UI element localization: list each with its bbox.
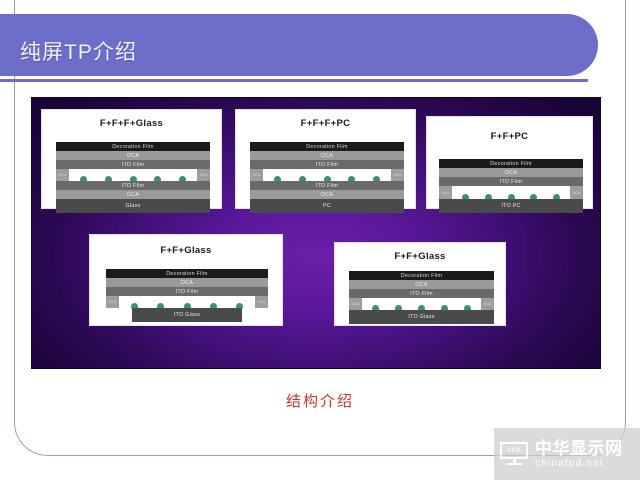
layer-stack: Decoration FilmOCAITO FilmOCAOCAITO PC <box>439 159 583 213</box>
page-title: 纯屏TP介绍 <box>20 36 137 66</box>
layer-decoration-film: Decoration Film <box>106 269 268 278</box>
diagram-title: F+F+Glass <box>335 251 505 262</box>
layer-ito-film: ITO Film <box>250 181 404 190</box>
air-gap-layer: OCAOCA <box>349 298 494 310</box>
layer-oca: OCA <box>250 151 404 160</box>
layer-decoration-film: Decoration Film <box>349 271 494 280</box>
spacer-tab-left: OCA <box>56 169 69 181</box>
spacer-tab-right: OCA <box>197 169 210 181</box>
layer-ito-film: ITO Film <box>439 177 583 186</box>
layer-ito-film: ITO Film <box>349 289 494 298</box>
diagram-card-2[interactable]: F+F+F+PCDecoration FilmOCAITO FilmOCAOCA… <box>235 109 416 209</box>
watermark-text: 中华显示网 chinafpd.net <box>535 439 623 470</box>
diagram-card-3[interactable]: F+F+PCDecoration FilmOCAITO FilmOCAOCAIT… <box>426 116 593 209</box>
watermark-url: chinafpd.net <box>535 458 623 470</box>
fpd-icon-label: FPD <box>500 442 528 459</box>
spacer-tab-right: OCA <box>391 169 404 181</box>
diagram-title: F+F+F+Glass <box>42 118 221 129</box>
spacer-tab-right: OCA <box>481 298 494 310</box>
content-panel: F+F+F+GlassDecoration FilmOCAITO FilmOCA… <box>31 97 601 369</box>
layer-ito-glass: ITO Glass <box>132 308 242 322</box>
layer-decoration-film: Decoration Film <box>439 159 583 168</box>
layer-oca: OCA <box>250 190 404 199</box>
spacer-tab-left: OCA <box>439 186 452 199</box>
layer-glass: Glass <box>56 199 210 213</box>
air-gap-layer: OCAOCA <box>106 296 268 308</box>
fpd-monitor-icon: FPD <box>500 440 530 468</box>
layer-ito-film: ITO Film <box>106 287 268 296</box>
layer-oca: OCA <box>439 168 583 177</box>
diagram-card-5[interactable]: F+F+GlassDecoration FilmOCAITO FilmOCAOC… <box>334 242 506 326</box>
layer-oca: OCA <box>106 278 268 287</box>
layer-stack: Decoration FilmOCAITO FilmOCAOCAITO Glas… <box>106 269 268 322</box>
spacer-tab-left: OCA <box>106 296 119 308</box>
layer-stack: Decoration FilmOCAITO FilmOCAOCAITO Film… <box>250 142 404 213</box>
layer-oca: OCA <box>56 151 210 160</box>
layer-stack: Decoration FilmOCAITO FilmOCAOCAITO Film… <box>56 142 210 213</box>
sensor-dots <box>454 186 568 199</box>
layer-oca: OCA <box>349 280 494 289</box>
sensor-dots <box>121 296 253 308</box>
watermark-cn: 中华显示网 <box>535 439 623 458</box>
section-caption: 结构介绍 <box>0 390 640 411</box>
watermark: FPD 中华显示网 chinafpd.net <box>494 428 640 480</box>
diagram-card-4[interactable]: F+F+GlassDecoration FilmOCAITO FilmOCAOC… <box>89 234 283 326</box>
sensor-dots <box>265 169 389 181</box>
title-underline <box>0 79 588 82</box>
diagram-title: F+F+Glass <box>90 245 282 256</box>
layer-decoration-film: Decoration Film <box>250 142 404 151</box>
slide: 纯屏TP介绍 F+F+F+GlassDecoration FilmOCAITO … <box>0 0 640 480</box>
spacer-tab-right: OCA <box>570 186 583 199</box>
layer-ito-film: ITO Film <box>56 160 210 169</box>
layer-ito-film: ITO Film <box>56 181 210 190</box>
title-banner: 纯屏TP介绍 <box>0 14 598 76</box>
air-gap-layer: OCAOCA <box>250 169 404 181</box>
air-gap-layer: OCAOCA <box>439 186 583 199</box>
air-gap-layer: OCAOCA <box>56 169 210 181</box>
layer-decoration-film: Decoration Film <box>56 142 210 151</box>
layer-ito-pc: ITO PC <box>439 199 583 213</box>
spacer-tab-left: OCA <box>349 298 362 310</box>
sensor-dots <box>364 298 479 310</box>
layer-stack: Decoration FilmOCAITO FilmOCAOCAITO Glas… <box>349 271 494 324</box>
spacer-tab-right: OCA <box>255 296 268 308</box>
diagram-title: F+F+F+PC <box>236 118 415 129</box>
layer-ito-film: ITO Film <box>250 160 404 169</box>
spacer-tab-left: OCA <box>250 169 263 181</box>
diagram-card-1[interactable]: F+F+F+GlassDecoration FilmOCAITO FilmOCA… <box>41 109 222 209</box>
sensor-dots <box>71 169 195 181</box>
monitor-foot <box>507 463 522 465</box>
layer-pc: PC <box>250 199 404 213</box>
layer-ito-glass: ITO Glass <box>349 310 494 324</box>
layer-oca: OCA <box>56 190 210 199</box>
diagram-title: F+F+PC <box>427 131 592 142</box>
